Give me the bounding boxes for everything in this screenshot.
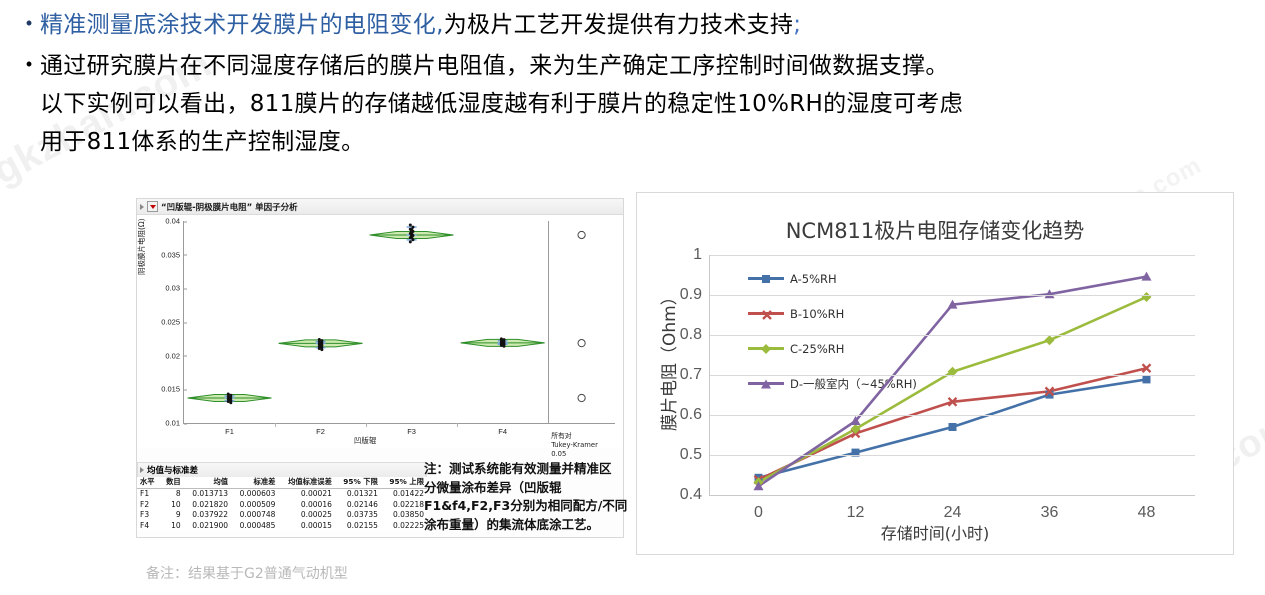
- chart-plot-area: A-5%RHB-10%RHC-25%RHD-一般室内（~45%RH) 0.40.…: [709, 255, 1195, 496]
- stats-cell: 0.000748: [231, 510, 278, 521]
- jmp-panel-titlebar: “凹版辊-阴极膜片电阻” 单因子分析: [137, 199, 623, 215]
- jmp-data-point: [409, 240, 412, 243]
- jmp-data-point: [229, 401, 232, 404]
- chart-y-tick: 0.5: [680, 446, 710, 464]
- stats-col-5: 95% 下限: [335, 477, 381, 489]
- stats-cell: 0.02146: [335, 500, 381, 511]
- bullet-2-line-3: 用于811体系的生产控制湿度。: [40, 123, 963, 161]
- chart-data-marker: [1142, 292, 1152, 302]
- jmp-x-separator: [457, 423, 458, 427]
- chart-gridline: [710, 375, 1195, 376]
- stats-cell: 0.021820: [184, 500, 231, 511]
- stats-cell: 0.03735: [335, 510, 381, 521]
- chart-gridline: [710, 255, 1195, 256]
- jmp-data-point: [502, 345, 505, 348]
- jmp-y-tick: 0.01: [165, 419, 184, 428]
- chart-title: NCM811极片电阻存储变化趋势: [637, 215, 1233, 245]
- jmp-y-tick: 0.015: [161, 385, 184, 394]
- stats-col-1: 数目: [160, 477, 183, 489]
- table-row: F180.0137130.0006030.000210.013210.01422: [137, 489, 427, 500]
- note-line-3: F1&f4,F2,F3分别为相同配方/不同: [424, 497, 636, 516]
- jmp-y-axis-label: 阴极膜片电阻(Ω): [136, 218, 147, 275]
- tukey-label-line: 0.05: [551, 450, 598, 459]
- stats-cell: 9: [160, 510, 183, 521]
- stats-cell: 0.000485: [231, 521, 278, 532]
- chart-x-tick: 12: [847, 504, 865, 522]
- stats-col-0: 水平: [137, 477, 160, 489]
- jmp-data-point: [318, 347, 321, 350]
- chart-gridline: [710, 455, 1195, 456]
- tukey-label-line: Tukey-Kramer: [551, 441, 598, 450]
- bullet-list: • 精准测量底涂技术开发膜片的电阻变化,为极片工艺开发提供有力技术支持; • 通…: [0, 0, 1265, 164]
- bullet-1-text: 精准测量底涂技术开发膜片的电阻变化,为极片工艺开发提供有力技术支持;: [40, 6, 801, 44]
- bullet-2-text: 通过研究膜片在不同湿度存储后的膜片电阻值，来为生产确定工序控制时间做数据支撑。 …: [40, 47, 963, 161]
- stats-cell: 0.000509: [231, 500, 278, 511]
- stats-table-container: 均值与标准差 水平数目均值标准差均值标准误差95% 下限95% 上限 F180.…: [137, 462, 427, 531]
- stats-cell: 0.03850: [381, 510, 427, 521]
- stats-cell: 10: [160, 521, 183, 532]
- bullet-marker-icon-2: •: [18, 47, 40, 81]
- jmp-plot-area: 阴极膜片电阻(Ω) 0.010.0150.020.0250.030.0350.0…: [137, 215, 623, 448]
- table-row: F390.0379220.0007480.000250.037350.03850: [137, 510, 427, 521]
- stats-col-4: 均值标准误差: [278, 477, 334, 489]
- stats-cell: 0.021900: [184, 521, 231, 532]
- tukey-comparison-circle: [578, 394, 585, 401]
- jmp-data-point: [411, 238, 414, 241]
- chart-y-tick: 0.4: [680, 486, 710, 504]
- stats-cell: 10: [160, 500, 183, 511]
- note-line-1: 注：测试系统能有效测量并精准区: [424, 460, 636, 479]
- disclosure-triangle-icon-2[interactable]: [140, 467, 144, 473]
- bullet-item-2: • 通过研究膜片在不同湿度存储后的膜片电阻值，来为生产确定工序控制时间做数据支撑…: [18, 47, 1247, 161]
- jmp-data-point: [320, 348, 323, 351]
- stats-cell: F3: [137, 510, 160, 521]
- tukey-comparison-circle: [578, 231, 585, 238]
- stats-cell: 0.01422: [381, 489, 427, 500]
- bullet-1-tail: ;: [793, 12, 801, 38]
- table-row: F2100.0218200.0005090.000160.021460.0221…: [137, 500, 427, 511]
- chart-gridline: [710, 415, 1195, 416]
- chart-gridline: [710, 295, 1195, 296]
- stats-cell: 8: [160, 489, 183, 500]
- stats-table: 水平数目均值标准差均值标准误差95% 下限95% 上限 F180.0137130…: [137, 477, 427, 531]
- chart-y-tick: 0.7: [680, 366, 710, 384]
- chart-data-marker: [1045, 335, 1055, 345]
- tukey-label-line: 所有对: [551, 432, 598, 441]
- jmp-data-point: [411, 230, 414, 233]
- stats-cell: 0.01321: [335, 489, 381, 500]
- stats-cell: 0.00015: [278, 521, 334, 532]
- jmp-y-tick: 0.02: [165, 351, 184, 360]
- jmp-axes: 0.010.0150.020.0250.030.0350.04F1F2F3F4: [183, 221, 615, 424]
- bullet-1-highlight: 精准测量底涂技术开发膜片的电阻变化,: [40, 12, 444, 38]
- chart-data-marker: [1143, 375, 1151, 383]
- jmp-panel-divider: [548, 221, 549, 423]
- ncm811-line-chart: NCM811极片电阻存储变化趋势 膜片电阻（Ohm） 存储时间(小时) A-5%…: [636, 192, 1234, 555]
- tukey-kramer-label: 所有对Tukey-Kramer0.05: [551, 432, 598, 459]
- stats-cell: 0.02225: [381, 521, 427, 532]
- jmp-data-point: [411, 226, 414, 229]
- chart-y-tick: 0.9: [680, 286, 710, 304]
- jmp-data-point: [409, 224, 412, 227]
- footnote: 备注：结果基于G2普通气动机型: [146, 563, 348, 583]
- chart-x-axis-label: 存储时间(小时): [637, 520, 1233, 544]
- jmp-data-point: [409, 236, 412, 239]
- jmp-y-tick: 0.04: [165, 217, 184, 226]
- note-line-2: 分微量涂布差异（凹版辊: [424, 479, 636, 498]
- stats-cell: 0.02218: [381, 500, 427, 511]
- jmp-x-separator: [366, 423, 367, 427]
- bullet-item-1: • 精准测量底涂技术开发膜片的电阻变化,为极片工艺开发提供有力技术支持;: [18, 6, 1247, 44]
- stats-cell: 0.02155: [335, 521, 381, 532]
- bullet-2-line-2: 以下实例可以看出，811膜片的存储越低湿度越有利于膜片的稳定性10%RH的湿度可…: [40, 85, 963, 123]
- chart-x-tick: 24: [944, 504, 962, 522]
- chart-y-tick: 0.6: [680, 406, 710, 424]
- chart-x-tick: 0: [754, 504, 763, 522]
- jmp-data-point: [409, 232, 412, 235]
- disclosure-triangle-icon[interactable]: [140, 204, 144, 210]
- stats-cell: F1: [137, 489, 160, 500]
- note-line-4: 涂布重量）的集流体底涂工艺。: [424, 516, 636, 535]
- stats-table-header-bar: 均值与标准差: [137, 462, 427, 477]
- stats-cell: F2: [137, 500, 160, 511]
- jmp-x-separator: [275, 423, 276, 427]
- jmp-x-axis-label: 凹版辊: [183, 435, 547, 446]
- stats-cell: 0.00025: [278, 510, 334, 521]
- jmp-data-point: [500, 344, 503, 347]
- bullet-1-rest: 为极片工艺开发提供有力技术支持: [444, 12, 794, 38]
- jmp-y-tick: 0.035: [161, 250, 184, 259]
- stats-table-head-row: 水平数目均值标准差均值标准误差95% 下限95% 上限: [137, 477, 427, 489]
- jmp-data-point: [411, 234, 414, 237]
- chart-y-tick: 0.8: [680, 326, 710, 344]
- analysis-note: 注：测试系统能有效测量并精准区 分微量涂布差异（凹版辊 F1&f4,F2,F3分…: [424, 460, 636, 534]
- chart-x-tick: 36: [1041, 504, 1059, 522]
- bullet-marker-icon: •: [18, 6, 40, 40]
- chart-gridline: [710, 335, 1195, 336]
- jmp-y-tick: 0.025: [161, 318, 184, 327]
- jmp-y-tick: 0.03: [165, 284, 184, 293]
- bullet-2-line-1: 通过研究膜片在不同湿度存储后的膜片电阻值，来为生产确定工序控制时间做数据支撑。: [40, 47, 963, 85]
- stats-cell: 0.013713: [184, 489, 231, 500]
- stats-cell: 0.00021: [278, 489, 334, 500]
- chart-x-tick: 48: [1138, 504, 1156, 522]
- chart-y-axis-label: 膜片电阻（Ohm）: [655, 288, 680, 431]
- jmp-data-layer: [184, 221, 615, 423]
- stats-cell: 0.037922: [184, 510, 231, 521]
- chart-data-marker: [949, 423, 957, 431]
- stats-col-6: 95% 上限: [381, 477, 427, 489]
- stats-cell: F4: [137, 521, 160, 532]
- tukey-comparison-circle: [578, 340, 585, 347]
- jmp-data-point: [409, 228, 412, 231]
- table-row: F4100.0219000.0004850.000150.021550.0222…: [137, 521, 427, 532]
- jmp-data-point: [227, 400, 230, 403]
- chart-y-tick: 1: [693, 246, 710, 264]
- red-triangle-menu-icon[interactable]: [147, 201, 158, 212]
- stats-col-3: 标准差: [231, 477, 278, 489]
- stats-table-body: F180.0137130.0006030.000210.013210.01422…: [137, 489, 427, 532]
- stats-col-2: 均值: [184, 477, 231, 489]
- stats-cell: 0.000603: [231, 489, 278, 500]
- stats-table-caption: 均值与标准差: [147, 464, 198, 476]
- stats-cell: 0.00016: [278, 500, 334, 511]
- jmp-panel-title: “凹版辊-阴极膜片电阻” 单因子分析: [161, 201, 298, 213]
